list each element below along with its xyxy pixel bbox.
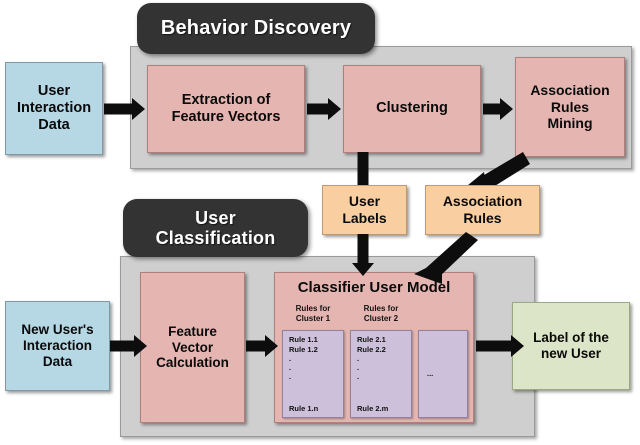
rules-column-3-placeholder: ... [427, 369, 433, 379]
diagram-canvas: User Interaction Data Extraction of Feat… [0, 0, 640, 445]
arrow-association-rules-to-classifier [408, 232, 478, 284]
rule-item: Rule 1.1 [289, 335, 343, 345]
rule-ellipsis-dot: . [289, 373, 343, 382]
rule-ellipsis-dot: . [289, 355, 343, 364]
arrow-user-labels-to-classifier [352, 234, 374, 276]
arrow-clustering-to-association-rules-mining [483, 98, 513, 120]
rule-item: Rule 2.1 [357, 335, 411, 345]
rules-column-2-caption: Rules for Cluster 2 [350, 304, 412, 324]
rules-column-1-caption: Rules for Cluster 1 [282, 304, 344, 324]
rules-column-3: ... [418, 330, 468, 418]
rule-ellipsis-dot: . [357, 373, 411, 382]
arrow-input-to-extraction [104, 98, 145, 120]
arrow-extraction-to-clustering [307, 98, 341, 120]
arrow-new-user-to-feature-vector [110, 335, 147, 357]
rule-item-last: Rule 1.n [289, 404, 343, 414]
input-new-user-interaction-data: New User's Interaction Data [5, 301, 110, 391]
step-clustering: Clustering [343, 65, 481, 153]
rules-column-1: Rule 1.1 Rule 1.2 . . . Rule 1.n [282, 330, 344, 418]
intermediate-association-rules: Association Rules [425, 185, 540, 235]
step-association-rules-mining: Association Rules Mining [515, 57, 625, 157]
intermediate-user-labels: User Labels [322, 185, 407, 235]
rule-item: Rule 1.2 [289, 345, 343, 355]
step-extraction-of-feature-vectors: Extraction of Feature Vectors [147, 65, 305, 153]
input-user-interaction-data: User Interaction Data [5, 62, 103, 155]
output-label-of-new-user: Label of the new User [512, 302, 630, 390]
header-behavior-discovery: Behavior Discovery [137, 3, 375, 54]
rule-item-last: Rule 2.m [357, 404, 411, 414]
rule-ellipsis-dot: . [357, 364, 411, 373]
arrow-feature-vector-to-classifier [246, 335, 278, 357]
arrow-classifier-to-label-output [476, 335, 524, 357]
rules-column-2: Rule 2.1 Rule 2.2 . . . Rule 2.m [350, 330, 412, 418]
rule-ellipsis-dot: . [289, 364, 343, 373]
rule-ellipsis-dot: . [357, 355, 411, 364]
classifier-user-model: Classifier User Model Rules for Cluster … [274, 272, 474, 423]
header-user-classification: User Classification [123, 199, 308, 257]
rule-item: Rule 2.2 [357, 345, 411, 355]
step-feature-vector-calculation: Feature Vector Calculation [140, 272, 245, 423]
